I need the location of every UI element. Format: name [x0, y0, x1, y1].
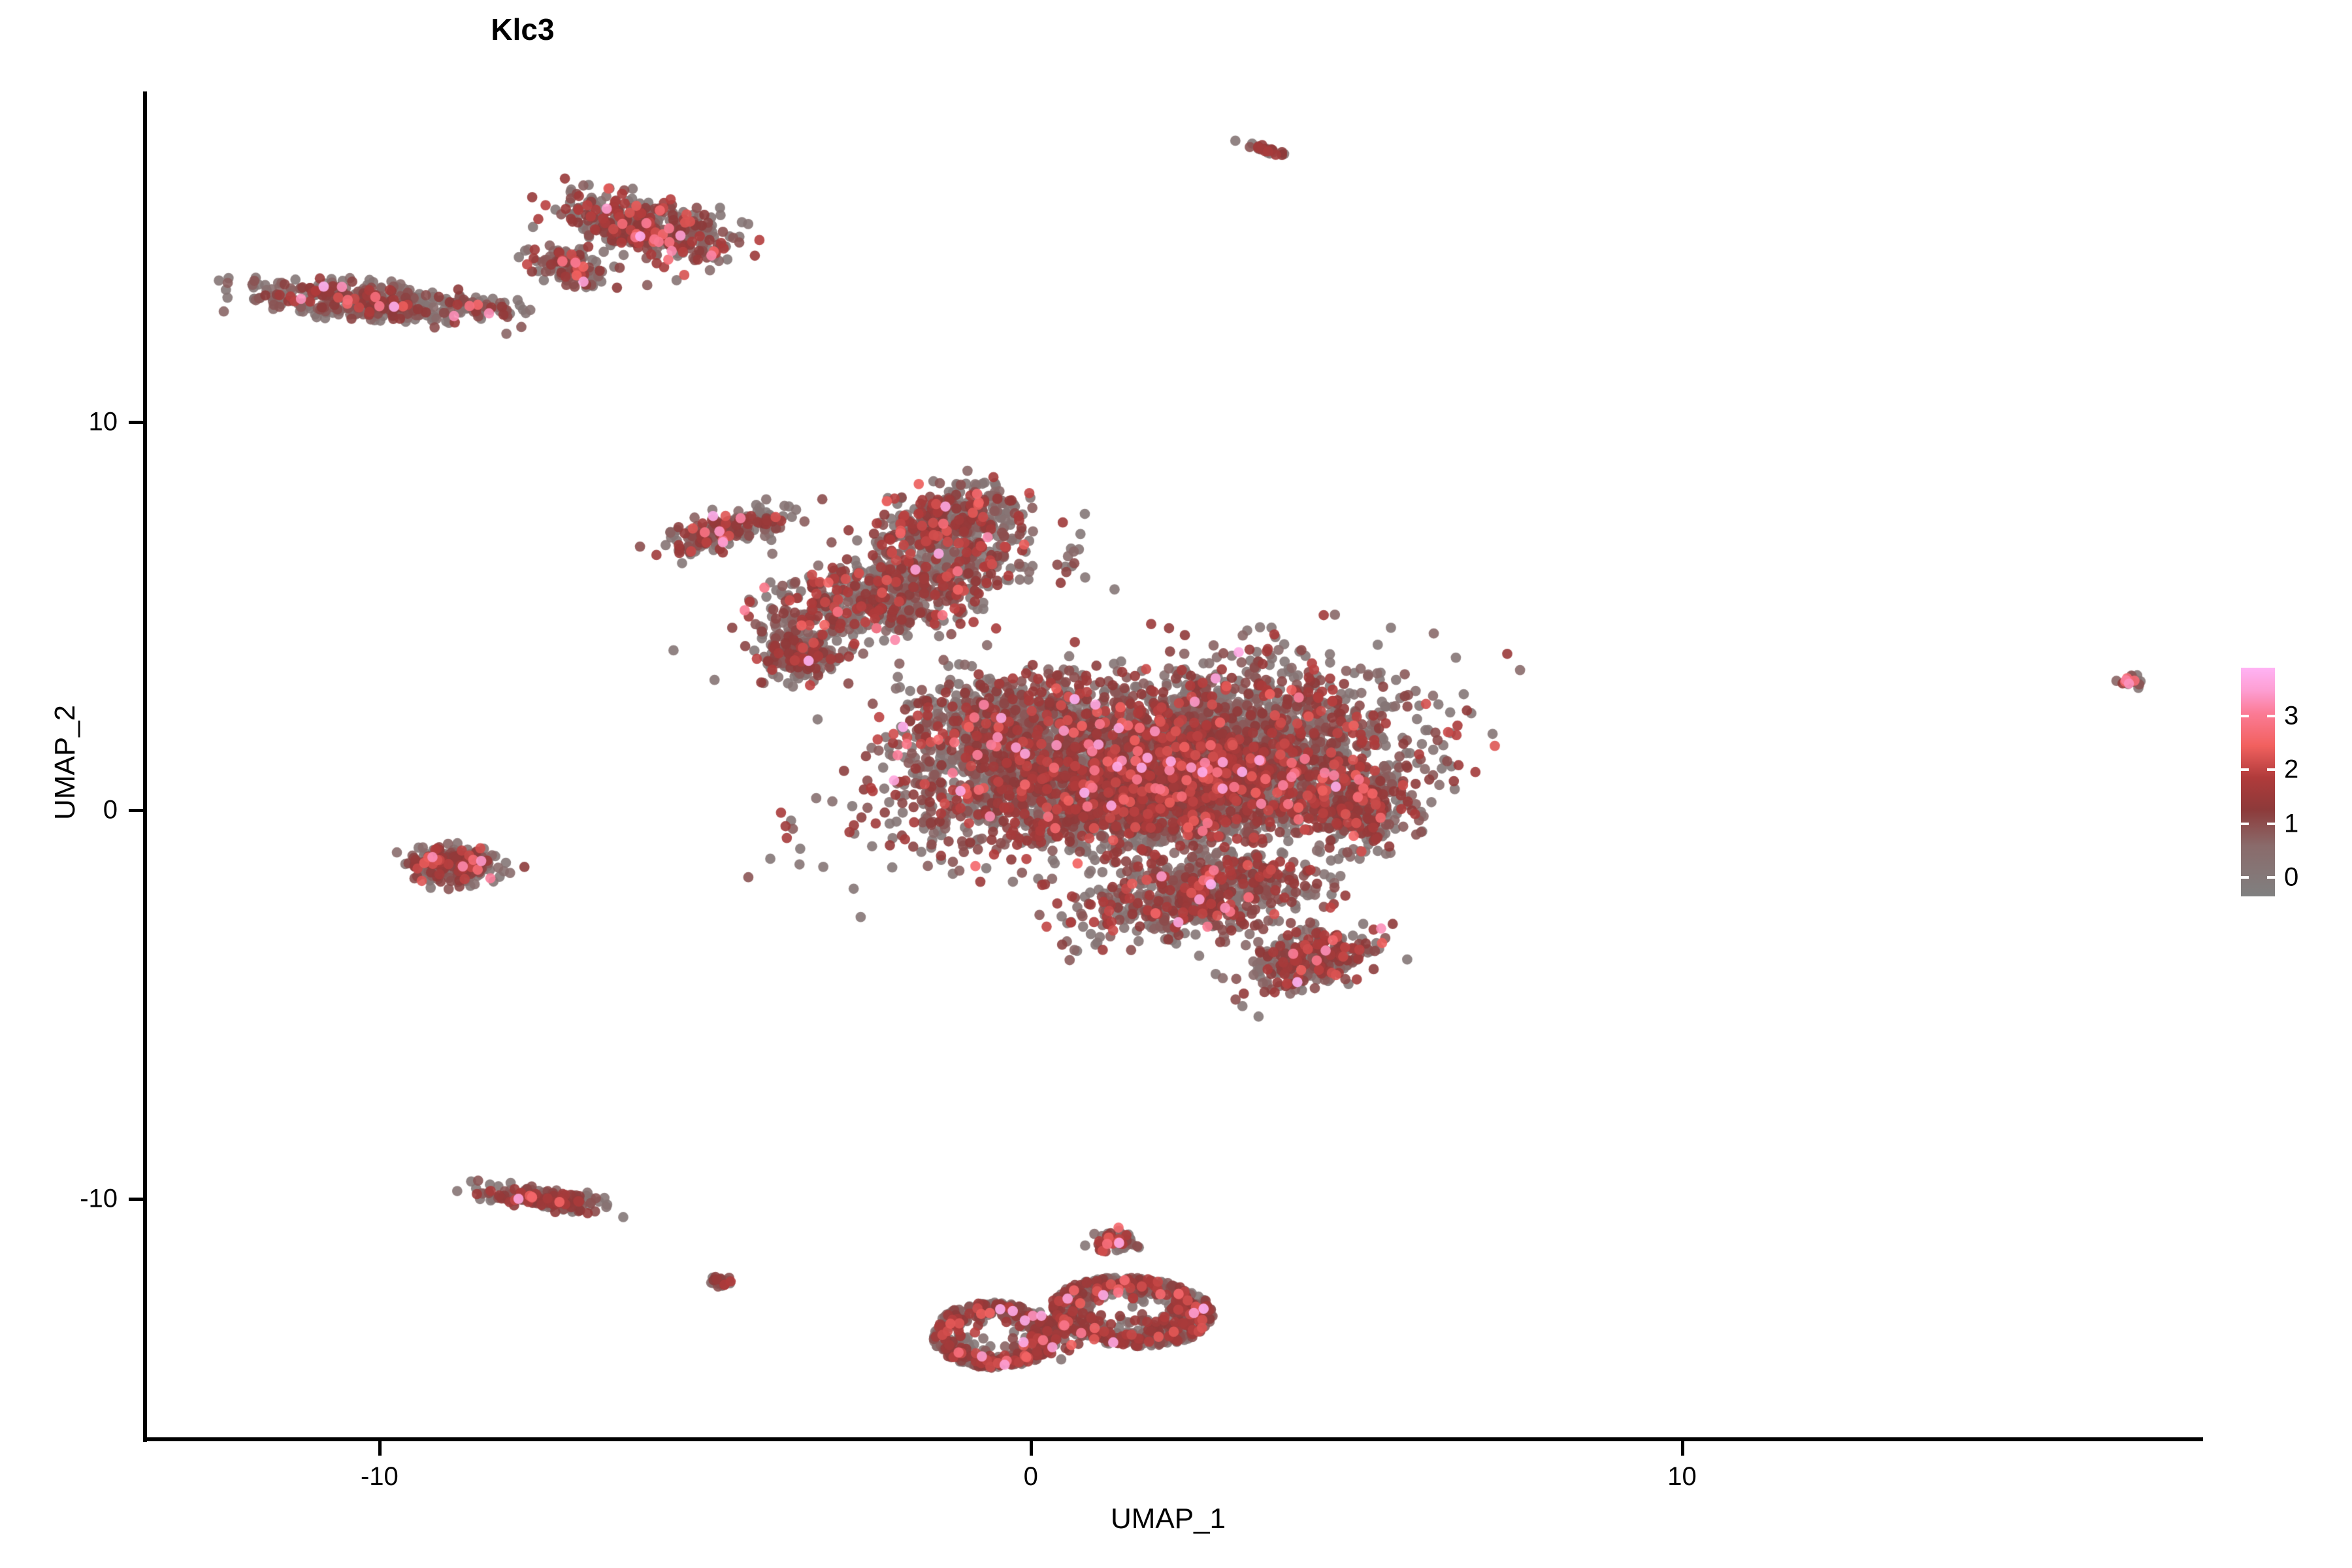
- colorbar-legend[interactable]: 3210: [2241, 668, 2332, 896]
- x-tick-label: -10: [314, 1462, 445, 1492]
- colorbar-tick-mark: [2241, 715, 2249, 717]
- x-tick-label: 10: [1617, 1462, 1748, 1492]
- y-tick-label: -10: [0, 1184, 118, 1214]
- x-axis-title-text: UMAP_1: [1111, 1503, 1226, 1535]
- y-tick-mark: [129, 421, 143, 424]
- page-title: Klc3: [0, 12, 2352, 47]
- scatter-points-canvas: [145, 91, 2203, 1440]
- y-tick-mark: [129, 809, 143, 812]
- y-axis-line: [143, 91, 147, 1442]
- plot-title-text: Klc3: [491, 12, 554, 47]
- chart-root: Klc3 100-10 -10010 UMAP_1 UMAP_2 3210: [0, 0, 2352, 1568]
- colorbar-tick-mark: [2267, 876, 2275, 879]
- colorbar-tick-mark: [2267, 768, 2275, 771]
- colorbar-tick-mark: [2241, 876, 2249, 879]
- colorbar-tick-mark: [2267, 823, 2275, 825]
- x-axis-line: [143, 1437, 2203, 1441]
- colorbar-tick-label: 0: [2284, 863, 2298, 892]
- y-axis-title: UMAP_2: [49, 684, 82, 841]
- x-axis-title: UMAP_1: [0, 1503, 2352, 1535]
- x-tick-mark: [1030, 1441, 1033, 1456]
- y-axis-title-text: UMAP_2: [49, 705, 81, 820]
- colorbar-tick-mark: [2267, 715, 2275, 717]
- x-tick-mark: [1681, 1441, 1684, 1456]
- y-tick-mark: [129, 1198, 143, 1201]
- x-tick-label: 0: [966, 1462, 1096, 1492]
- colorbar-tick-label: 3: [2284, 702, 2298, 731]
- x-tick-mark: [378, 1441, 382, 1456]
- colorbar-gradient-fill: [2241, 668, 2275, 896]
- colorbar-tick-mark: [2241, 823, 2249, 825]
- y-tick-label: 10: [0, 407, 118, 436]
- colorbar-tick-label: 2: [2284, 755, 2298, 785]
- plot-panel: [145, 91, 2203, 1440]
- colorbar-gradient: [2241, 668, 2275, 896]
- colorbar-tick-label: 1: [2284, 809, 2298, 838]
- colorbar-tick-mark: [2241, 768, 2249, 771]
